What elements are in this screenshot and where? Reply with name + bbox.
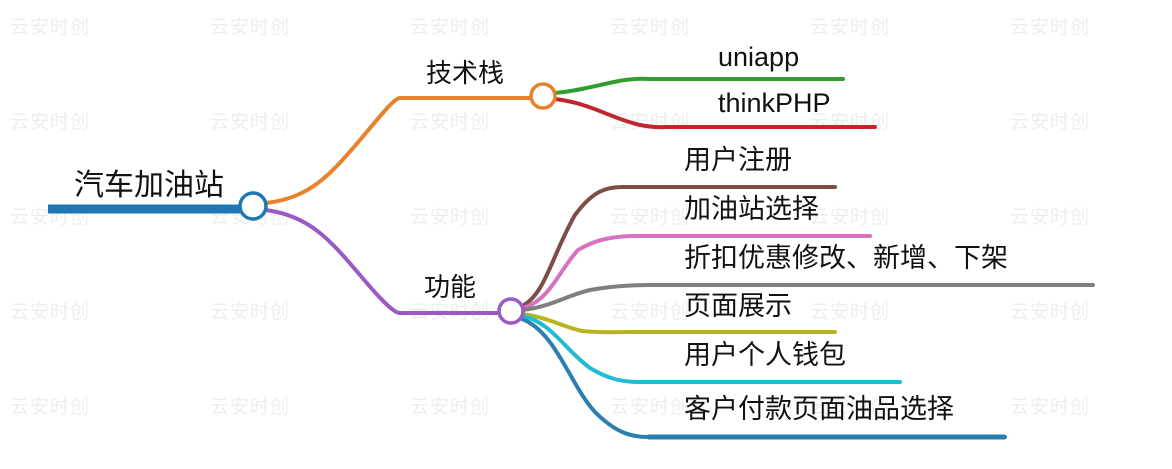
leaf-label-user-wallet[interactable]: 用户个人钱包: [684, 342, 846, 369]
leaf-label-thinkphp[interactable]: thinkPHP: [718, 90, 831, 117]
leaf-label-page-display[interactable]: 页面展示: [684, 293, 792, 320]
mindmap-labels: 汽车加油站技术栈uniappthinkPHP功能用户注册加油站选择折扣优惠修改、…: [0, 0, 1172, 469]
root-node-label[interactable]: 汽车加油站: [74, 171, 224, 201]
leaf-label-fuel-select-payment[interactable]: 客户付款页面油品选择: [684, 396, 954, 423]
mindmap-canvas: 云安时创云安时创云安时创云安时创云安时创云安时创云安时创云安时创云安时创云安时创…: [0, 0, 1172, 469]
branch-label-tech-stack[interactable]: 技术栈: [426, 60, 504, 86]
leaf-label-station-select[interactable]: 加油站选择: [684, 196, 819, 223]
leaf-label-discount-manage[interactable]: 折扣优惠修改、新增、下架: [684, 245, 1008, 272]
branch-label-features[interactable]: 功能: [424, 274, 476, 300]
leaf-label-user-register[interactable]: 用户注册: [684, 147, 792, 174]
leaf-label-uniapp[interactable]: uniapp: [718, 44, 799, 71]
